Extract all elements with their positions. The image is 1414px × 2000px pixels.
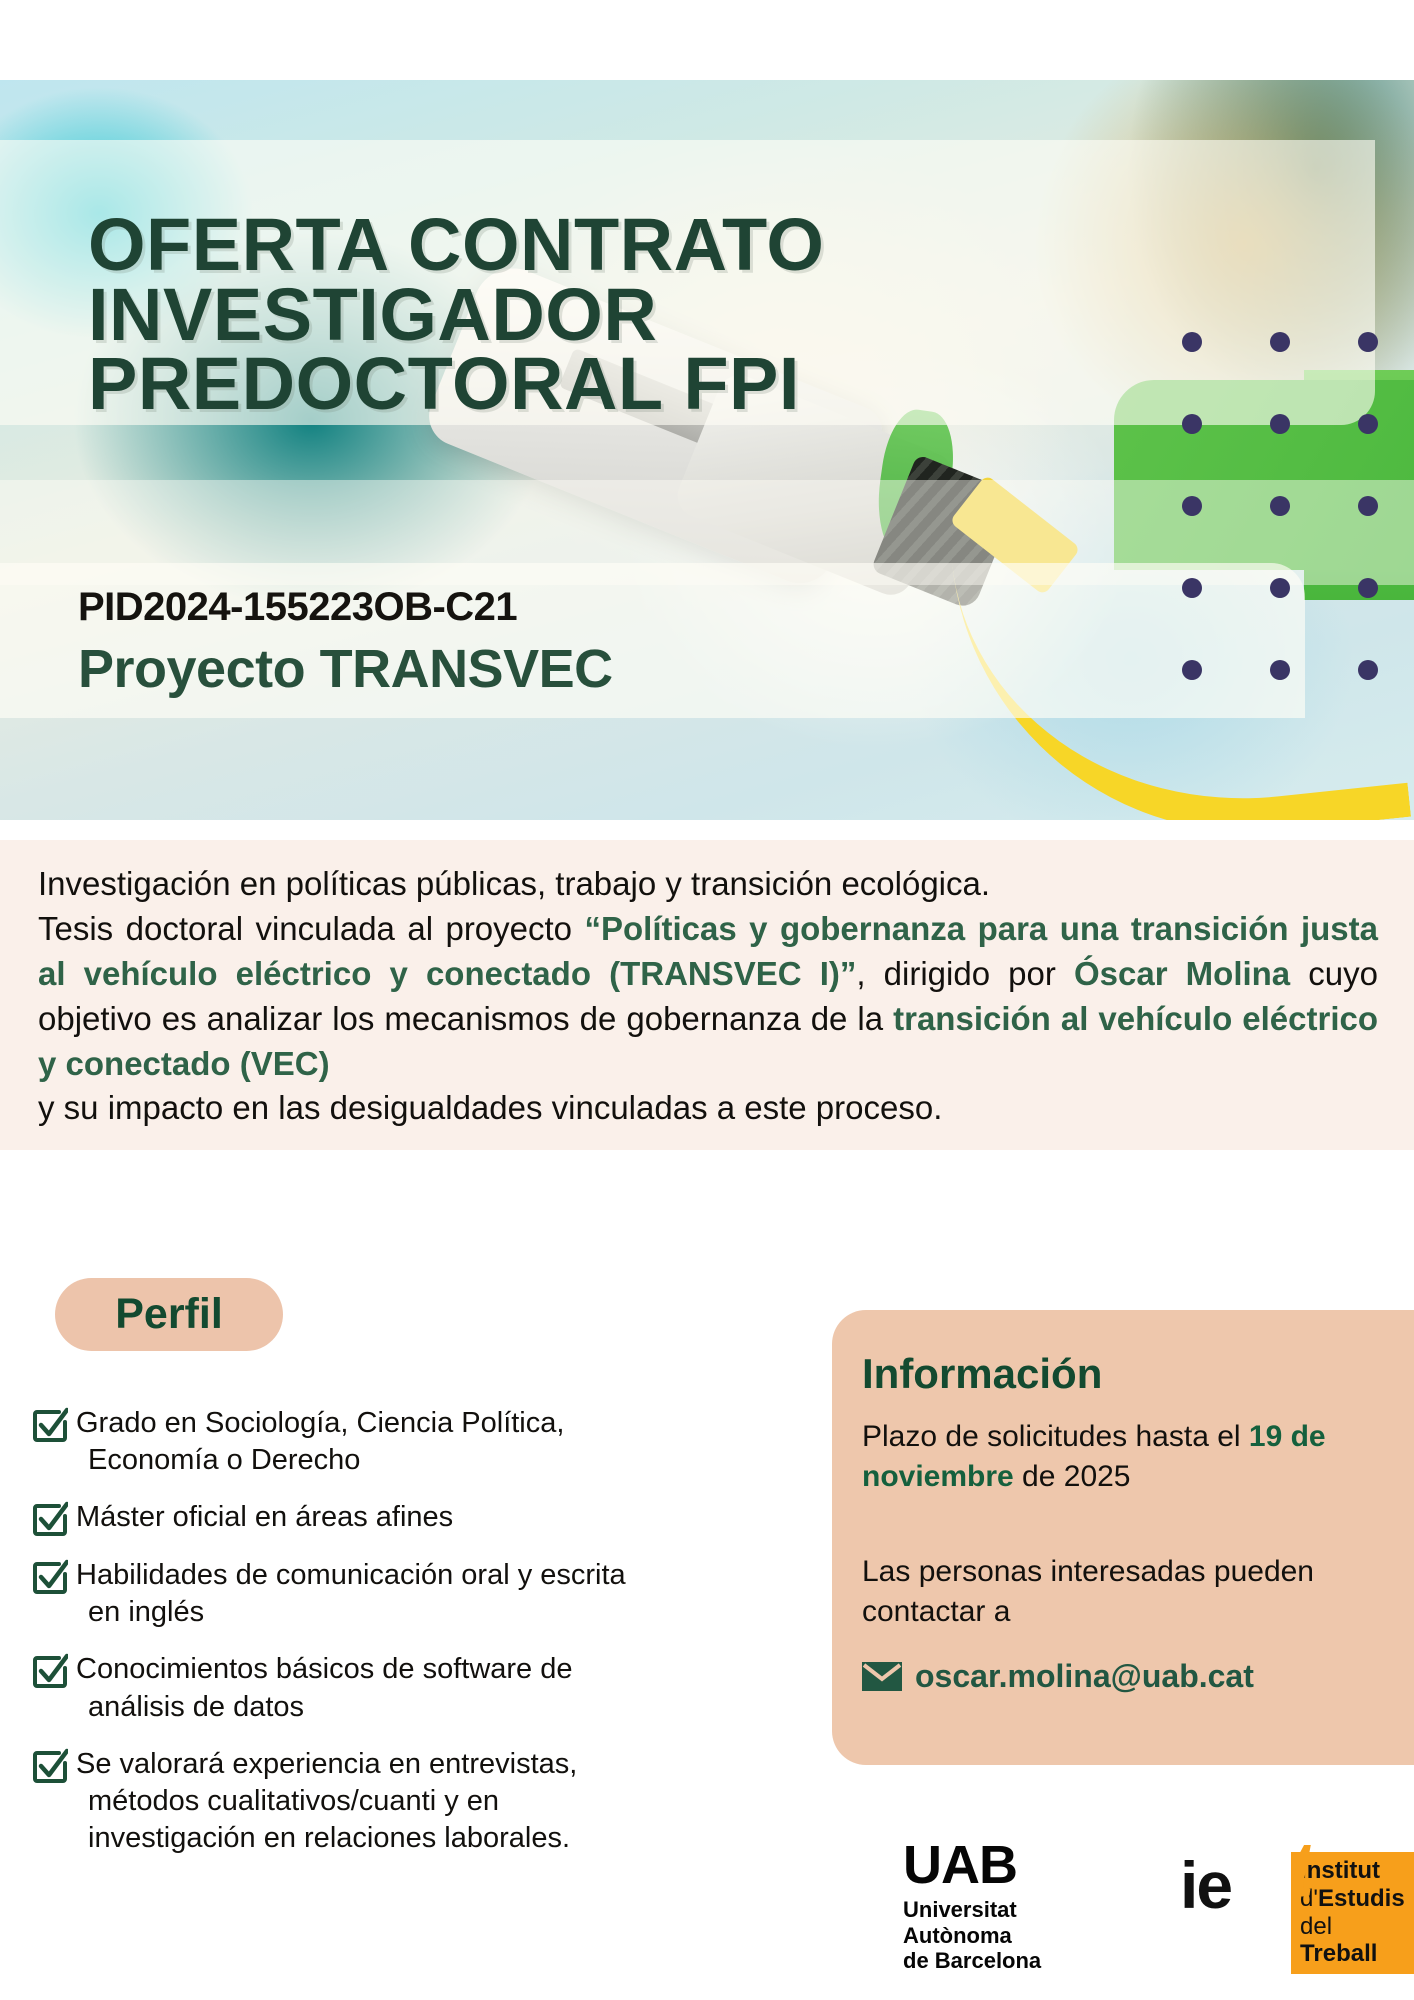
poster-root: OFERTA CONTRATO INVESTIGADOR PREDOCTORAL…	[0, 0, 1414, 2000]
requirement-text: Conocimientos básicos de software deanál…	[76, 1651, 572, 1725]
iet-box-line-3-bold: Treball	[1300, 1940, 1377, 1967]
uab-name-line-1: Universitat	[903, 1897, 1041, 1923]
description-line-last: y su impacto en las desigualdades vincul…	[38, 1086, 1378, 1131]
requirement-text: Grado en Sociología, Ciencia Política,Ec…	[76, 1405, 564, 1479]
requirement-item: Se valorará experiencia en entrevistas,m…	[32, 1746, 822, 1857]
decorative-dot-grid	[1140, 300, 1414, 700]
requirement-item: Máster oficial en áreas afines	[32, 1499, 822, 1537]
iet-box-line-2: d'Estudis	[1300, 1885, 1405, 1913]
requirement-line: Conocimientos básicos de software de	[76, 1653, 572, 1685]
grid-dot	[1182, 578, 1202, 598]
requirement-line: investigación en relaciones laborales.	[76, 1820, 577, 1857]
grid-dot	[1270, 496, 1290, 516]
title-line-2: INVESTIGADOR	[88, 280, 1088, 350]
description-paragraph: Tesis doctoral vinculada al proyecto “Po…	[38, 907, 1378, 1087]
info-contact-text: Las personas interesadas pueden contacta…	[862, 1552, 1322, 1631]
grid-dot	[1270, 578, 1290, 598]
title-line-3: PREDOCTORAL FPI	[88, 349, 1088, 419]
deadline-suffix: de 2025	[1014, 1460, 1131, 1493]
requirement-line: Máster oficial en áreas afines	[76, 1501, 453, 1533]
checkbox-checked-icon	[32, 1653, 68, 1689]
grid-dot	[1182, 660, 1202, 680]
envelope-icon	[862, 1662, 902, 1691]
requirement-line: Habilidades de comunicación oral y escri…	[76, 1559, 626, 1591]
info-deadline: Plazo de solicitudes hasta el 19 de novi…	[862, 1417, 1382, 1496]
title-line-1: OFERTA CONTRATO	[88, 210, 1088, 280]
uab-fullname: Universitat Autònoma de Barcelona	[903, 1897, 1041, 1974]
uab-logo: UAB Universitat Autònoma de Barcelona	[903, 1838, 1041, 1974]
checkbox-checked-icon	[32, 1407, 68, 1443]
grid-dot	[1358, 332, 1378, 352]
requirement-line: Grado en Sociología, Ciencia Política,	[76, 1407, 564, 1439]
grid-dot	[1358, 578, 1378, 598]
checkbox-checked-icon	[32, 1501, 68, 1537]
iet-box-line-3-prefix: del	[1300, 1913, 1332, 1940]
perfil-heading-pill: Perfil	[55, 1278, 283, 1351]
contact-email[interactable]: oscar.molina@uab.cat	[915, 1658, 1254, 1695]
iet-box-line-2-bold: Estudis	[1318, 1885, 1405, 1912]
description-text: Investigación en políticas públicas, tra…	[38, 862, 1378, 1131]
perfil-heading-label: Perfil	[115, 1290, 223, 1339]
requirement-text: Se valorará experiencia en entrevistas,m…	[76, 1746, 577, 1857]
description-line-1: Investigación en políticas públicas, tra…	[38, 862, 1378, 907]
uab-name-line-2: Autònoma	[903, 1923, 1041, 1949]
requirement-line: métodos cualitativos/cuanti y en	[76, 1783, 577, 1820]
requirement-item: Grado en Sociología, Ciencia Política,Ec…	[32, 1405, 822, 1479]
perfil-requirements-list: Grado en Sociología, Ciencia Política,Ec…	[32, 1405, 822, 1877]
requirement-item: Conocimientos básicos de software deanál…	[32, 1651, 822, 1725]
grid-dot	[1270, 414, 1290, 434]
info-heading: Información	[862, 1350, 1102, 1398]
requirement-line: en inglés	[76, 1594, 626, 1631]
project-name: Proyecto TRANSVEC	[78, 638, 613, 700]
uab-name-line-3: de Barcelona	[903, 1948, 1041, 1974]
iet-letters-ie: ie	[1180, 1848, 1231, 1922]
iet-logo: iet Institut d'Estudis del Treball	[1180, 1852, 1414, 1974]
requirement-text: Máster oficial en áreas afines	[76, 1499, 453, 1536]
grid-dot	[1358, 660, 1378, 680]
project-id: PID2024-155223OB-C21	[78, 585, 517, 630]
requirement-line: Se valorará experiencia en entrevistas,	[76, 1748, 577, 1780]
grid-dot	[1182, 496, 1202, 516]
requirement-line: análisis de datos	[76, 1689, 572, 1726]
grid-dot	[1182, 414, 1202, 434]
grid-dot	[1358, 414, 1378, 434]
grid-dot	[1358, 496, 1378, 516]
deadline-prefix: Plazo de solicitudes hasta el	[862, 1420, 1249, 1453]
iet-box-line-3: del Treball	[1300, 1913, 1405, 1969]
grid-dot	[1270, 332, 1290, 352]
grid-dot	[1270, 660, 1290, 680]
checkbox-checked-icon	[32, 1748, 68, 1784]
requirement-line: Economía o Derecho	[76, 1442, 564, 1479]
iet-box-line-1: Institut	[1300, 1857, 1405, 1885]
desc-seg-1: Tesis doctoral vinculada al proyecto	[38, 910, 584, 947]
iet-letter-t: t	[1288, 1830, 1312, 1908]
grid-dot	[1182, 332, 1202, 352]
iet-wordmark: iet	[1180, 1852, 1231, 1918]
requirement-item: Habilidades de comunicación oral y escri…	[32, 1557, 822, 1631]
desc-supervisor-name: Óscar Molina	[1074, 955, 1290, 992]
requirement-text: Habilidades de comunicación oral y escri…	[76, 1557, 626, 1631]
desc-seg-2: , dirigido por	[856, 955, 1074, 992]
contact-email-row[interactable]: oscar.molina@uab.cat	[862, 1658, 1254, 1695]
checkbox-checked-icon	[32, 1559, 68, 1595]
uab-acronym: UAB	[903, 1838, 1041, 1892]
page-title: OFERTA CONTRATO INVESTIGADOR PREDOCTORAL…	[88, 210, 1088, 419]
